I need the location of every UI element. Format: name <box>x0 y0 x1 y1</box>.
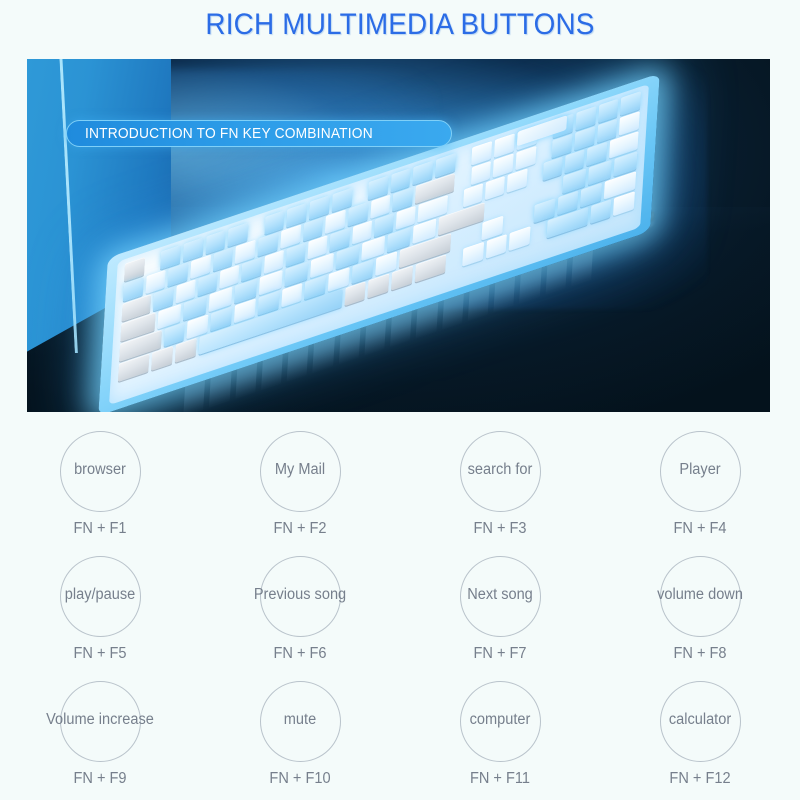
fn-function-label: Volume increase <box>1 710 198 730</box>
fn-function-label: Player <box>601 460 798 480</box>
fn-function-label: calculator <box>601 710 798 730</box>
fn-item-f8[interactable]: volume down FN + F8 <box>600 549 800 674</box>
fn-combo-label: FN + F12 <box>601 770 798 788</box>
fn-function-label: browser <box>1 460 198 480</box>
fn-row-2: play/pause FN + F5 Previous song FN + F6… <box>0 549 800 674</box>
fn-function-label: search for <box>401 460 598 480</box>
fn-item-f5[interactable]: play/pause FN + F5 <box>0 549 200 674</box>
fn-item-f12[interactable]: calculator FN + F12 <box>600 674 800 799</box>
fn-item-f3[interactable]: search for FN + F3 <box>400 424 600 549</box>
fn-item-f10[interactable]: mute FN + F10 <box>200 674 400 799</box>
fn-item-f11[interactable]: computer FN + F11 <box>400 674 600 799</box>
fn-item-f9[interactable]: Volume increase FN + F9 <box>0 674 200 799</box>
fn-function-label: computer <box>401 710 598 730</box>
fn-function-label: Previous song <box>201 585 398 605</box>
fn-function-label: volume down <box>601 585 798 605</box>
fn-item-f7[interactable]: Next song FN + F7 <box>400 549 600 674</box>
fn-combo-label: FN + F4 <box>601 520 798 538</box>
fn-combo-label: FN + F11 <box>401 770 598 788</box>
fn-combo-label: FN + F3 <box>401 520 598 538</box>
fn-item-f6[interactable]: Previous song FN + F6 <box>200 549 400 674</box>
fn-row-1: browser FN + F1 My Mail FN + F2 search f… <box>0 424 800 549</box>
fn-function-label: My Mail <box>201 460 398 480</box>
section-banner: INTRODUCTION TO FN KEY COMBINATION <box>66 120 452 147</box>
hero-product-image: INTRODUCTION TO FN KEY COMBINATION <box>27 59 770 412</box>
fn-combination-grid: browser FN + F1 My Mail FN + F2 search f… <box>0 424 800 799</box>
fn-function-label: Next song <box>401 585 598 605</box>
fn-row-3: Volume increase FN + F9 mute FN + F10 co… <box>0 674 800 799</box>
fn-combo-label: FN + F5 <box>1 645 198 663</box>
fn-item-f2[interactable]: My Mail FN + F2 <box>200 424 400 549</box>
fn-combo-label: FN + F10 <box>201 770 398 788</box>
fn-combo-label: FN + F2 <box>201 520 398 538</box>
fn-function-label: mute <box>201 710 398 730</box>
fn-combo-label: FN + F1 <box>1 520 198 538</box>
fn-combo-label: FN + F9 <box>1 770 198 788</box>
section-banner-label: INTRODUCTION TO FN KEY COMBINATION <box>85 126 373 142</box>
fn-combo-label: FN + F8 <box>601 645 798 663</box>
fn-combo-label: FN + F6 <box>201 645 398 663</box>
page-title: RICH MULTIMEDIA BUTTONS <box>28 8 772 42</box>
fn-item-f1[interactable]: browser FN + F1 <box>0 424 200 549</box>
fn-function-label: play/pause <box>1 585 198 605</box>
fn-item-f4[interactable]: Player FN + F4 <box>600 424 800 549</box>
fn-combo-label: FN + F7 <box>401 645 598 663</box>
